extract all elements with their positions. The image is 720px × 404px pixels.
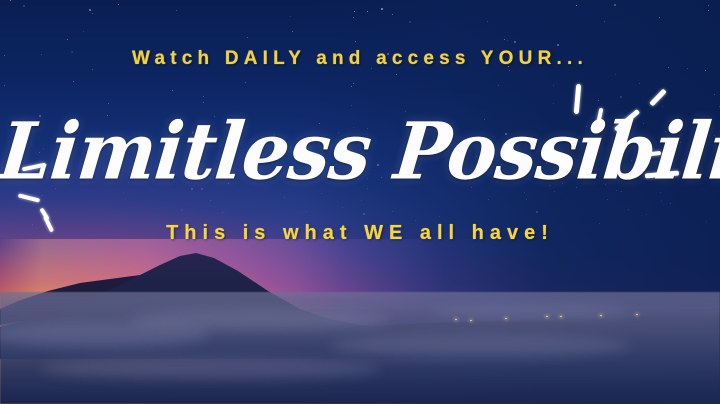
distant-village-light xyxy=(546,316,548,317)
cloud-wisp xyxy=(40,358,380,380)
cloud-wisp xyxy=(430,304,630,320)
tagline-top: Watch DAILY and access YOUR... xyxy=(0,48,720,70)
distant-village-light xyxy=(505,318,507,319)
slide-canvas: Watch DAILY and access YOUR... Limitless… xyxy=(0,0,720,404)
distant-village-light xyxy=(636,314,638,315)
cloud-wisp xyxy=(130,310,390,330)
tagline-bottom: This is what WE all have! xyxy=(0,222,720,245)
headline-script-text: Limitless Possibilities xyxy=(0,101,720,203)
distant-village-light xyxy=(600,315,602,316)
cloud-wisp xyxy=(330,334,630,358)
distant-village-light xyxy=(560,316,562,317)
distant-village-light xyxy=(455,319,457,320)
landscape-layer xyxy=(0,239,720,404)
distant-village-light xyxy=(470,320,472,321)
